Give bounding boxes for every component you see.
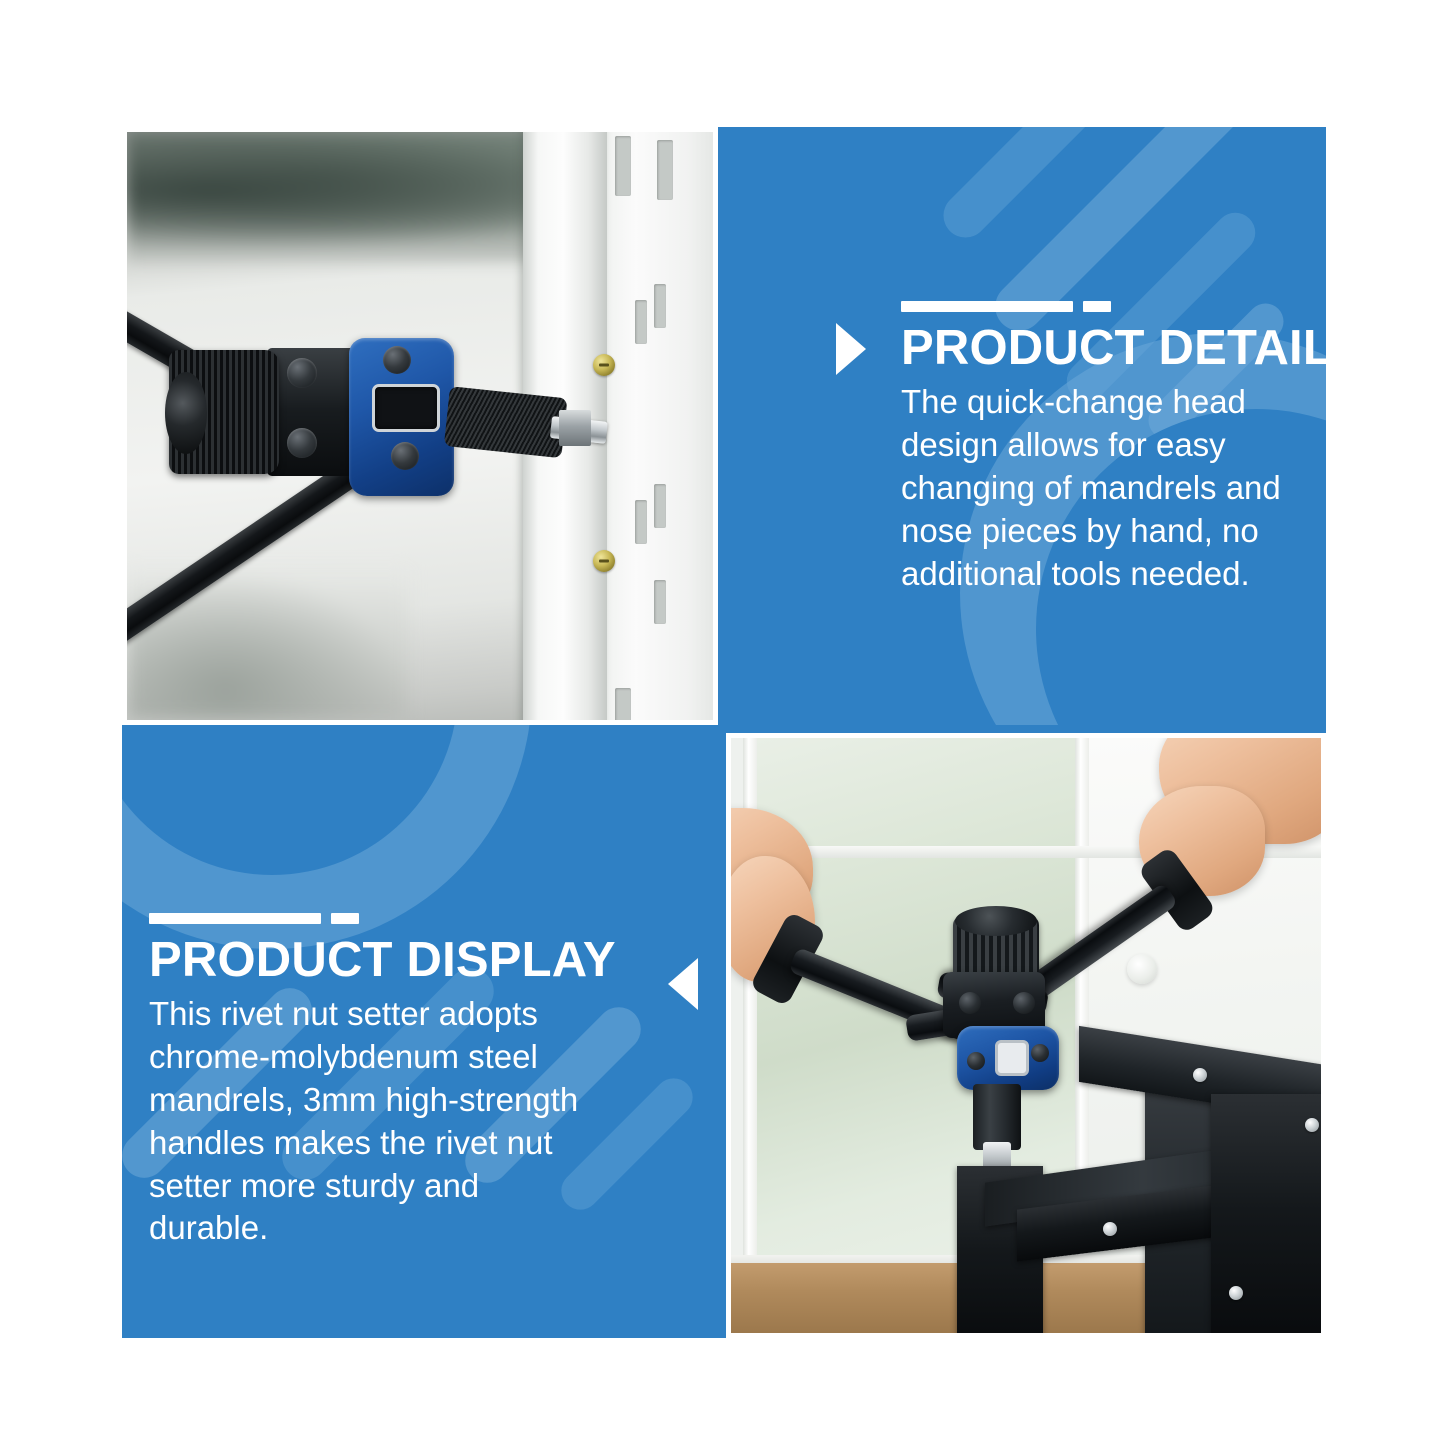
body-bolt-right — [1031, 1044, 1049, 1062]
body-bolt-top — [383, 346, 411, 374]
heading-rule — [901, 301, 1313, 312]
adjustment-knob-cap — [165, 372, 207, 454]
body-bolt-bottom — [391, 442, 419, 470]
quadrant-bottom-right — [718, 725, 1326, 1338]
photo-detail-closeup — [122, 127, 718, 725]
heading-rule-long — [149, 913, 321, 924]
upright-slot — [654, 284, 666, 328]
quadrant-top-right: PRODUCT DETAILS The quick-change head de… — [718, 127, 1326, 725]
product-display-heading: PRODUCT DISPLAY — [149, 936, 581, 986]
knurled-nose-piece — [444, 386, 568, 458]
heading-rule-short — [1083, 301, 1111, 312]
mounting-screw — [593, 354, 615, 376]
frame-screw — [1229, 1286, 1243, 1300]
upright-slot — [654, 580, 666, 624]
product-infographic: PRODUCT DETAILS The quick-change head de… — [0, 0, 1445, 1445]
heading-rule-short — [331, 913, 359, 924]
heading-rule-long — [901, 301, 1073, 312]
heading-rule — [149, 913, 581, 924]
frame-panel-right — [1211, 1094, 1321, 1333]
quadrant-bottom-left: PRODUCT DISPLAY This rivet nut setter ad… — [122, 725, 718, 1338]
rivet-nut — [559, 410, 591, 446]
quadrant-top-left — [122, 127, 718, 725]
adjustment-knob-cap — [955, 906, 1037, 936]
photo-in-use-canvas — [731, 738, 1321, 1333]
upright-slot — [657, 140, 673, 200]
steel-upright-back — [597, 132, 713, 720]
mechanism-bolt — [1013, 992, 1035, 1014]
upright-slot — [615, 688, 631, 720]
mechanism-bolt — [287, 428, 317, 458]
frame-screw — [1193, 1068, 1207, 1082]
upright-slot — [635, 500, 647, 544]
frame-screw — [1103, 1222, 1117, 1236]
photo-detail-closeup-canvas — [127, 132, 713, 720]
nose-piece — [973, 1084, 1021, 1150]
tool-body-window — [372, 384, 440, 432]
arrow-left-icon — [668, 958, 698, 1010]
section-product-details: PRODUCT DETAILS The quick-change head de… — [901, 301, 1313, 595]
body-bolt-left — [967, 1052, 985, 1070]
mechanism-bolt — [959, 992, 981, 1014]
tool-body-window — [995, 1040, 1029, 1076]
upright-slot — [635, 300, 647, 344]
blue-panel: PRODUCT DETAILS The quick-change head de… — [122, 127, 1326, 1338]
mounting-screw — [593, 550, 615, 572]
mechanism-bolt — [287, 358, 317, 388]
photo-in-use — [726, 733, 1326, 1338]
upright-slot — [615, 136, 631, 196]
section-product-display: PRODUCT DISPLAY This rivet nut setter ad… — [149, 913, 581, 1250]
frame-screw — [1305, 1118, 1319, 1132]
upright-slot — [654, 484, 666, 528]
product-details-body: The quick-change head design allows for … — [901, 381, 1313, 595]
product-details-heading: PRODUCT DETAILS — [901, 324, 1313, 374]
door-handle-knob — [1127, 954, 1157, 984]
product-display-body: This rivet nut setter adopts chrome-moly… — [149, 993, 581, 1250]
arrow-right-icon — [836, 323, 866, 375]
